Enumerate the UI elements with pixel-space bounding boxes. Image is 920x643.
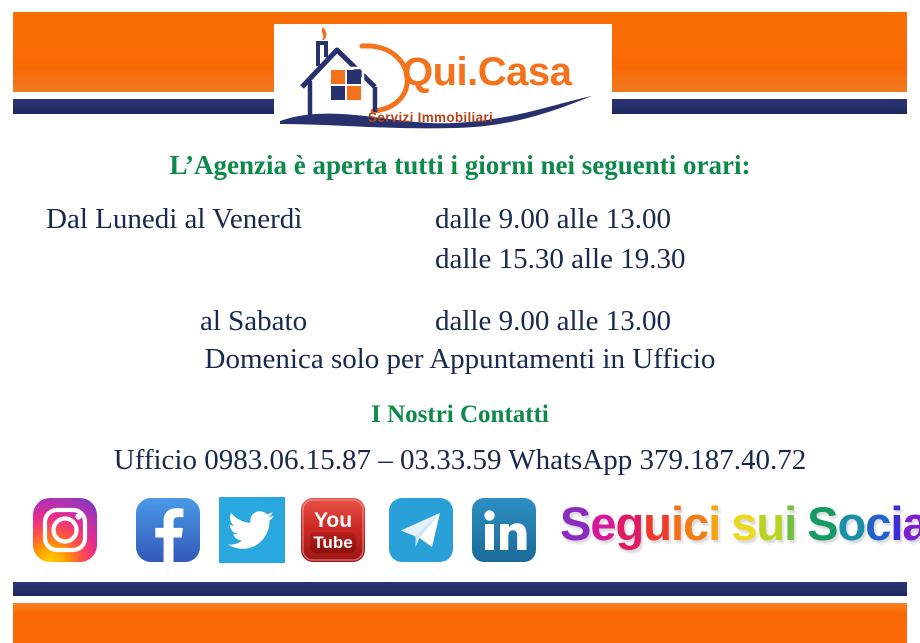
youtube-icon[interactable]: You Tube: [300, 497, 366, 563]
social-cta-letter: S: [560, 500, 590, 547]
twitter-icon[interactable]: [219, 497, 285, 563]
social-cta-letter: S: [807, 500, 837, 547]
logo-wordmark: Qui.Casa: [402, 52, 571, 92]
instagram-icon[interactable]: [32, 497, 98, 563]
sunday-note: Domenica solo per Appuntamenti in Uffici…: [0, 343, 920, 376]
linkedin-icon[interactable]: [471, 497, 537, 563]
social-cta-letter: s: [731, 500, 756, 547]
svg-text:Tube: Tube: [313, 533, 352, 552]
hours-heading: L’Agenzia è aperta tutti i giorni nei se…: [0, 150, 920, 181]
social-cta-letter: c: [683, 500, 708, 547]
contacts-phone-line: Ufficio 0983.06.15.87 – 03.33.59 WhatsAp…: [0, 444, 920, 477]
weekday-time-afternoon: dalle 15.30 alle 19.30: [435, 243, 685, 276]
footer-orange-band: [13, 603, 907, 643]
facebook-icon[interactable]: [135, 497, 201, 563]
social-cta-letter: c: [865, 500, 890, 547]
svg-text:You: You: [314, 509, 352, 532]
social-cta-letter: u: [643, 500, 671, 547]
logo-tagline: Servizi Immobiliari: [368, 110, 493, 125]
contacts-heading: I Nostri Contatti: [0, 401, 920, 429]
social-cta-letter: o: [837, 500, 865, 547]
weekday-label: Dal Lunedi al Venerdì: [46, 203, 302, 236]
footer-navy-band: [13, 582, 907, 596]
weekday-time-morning: dalle 9.00 alle 13.00: [435, 203, 671, 236]
flyer-poster: Qui.Casa Servizi Immobiliari L’Agenzia è…: [0, 0, 920, 643]
social-cta-letter: g: [616, 500, 644, 547]
social-cta-letter: i: [671, 500, 683, 547]
saturday-label: al Sabato: [200, 305, 307, 338]
saturday-time: dalle 9.00 alle 13.00: [435, 305, 671, 338]
logo-plate: Qui.Casa Servizi Immobiliari: [274, 24, 612, 131]
social-cta-text: SeguicisuiSocial: [560, 500, 920, 547]
social-cta-letter: i: [784, 500, 796, 547]
social-cta-letter: u: [756, 500, 784, 547]
telegram-icon[interactable]: [388, 497, 454, 563]
social-cta-letter: i: [708, 500, 720, 547]
social-cta-letter: a: [902, 500, 920, 547]
social-cta-letter: i: [890, 500, 902, 547]
social-cta-letter: e: [590, 500, 615, 547]
